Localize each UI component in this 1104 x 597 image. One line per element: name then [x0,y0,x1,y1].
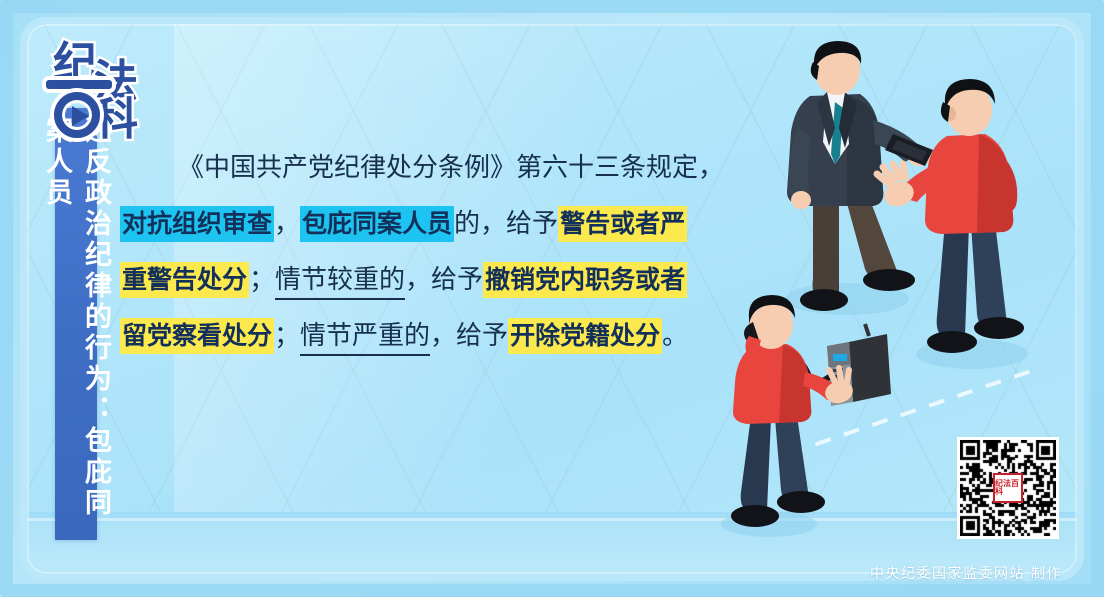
text-line-1: 《中国共产党纪律处分条例》第六十三条规定， [120,140,760,196]
brand-logo: 纪 纪 法 法 科 科 [50,42,154,142]
poster-stage: 纪 纪 法 法 科 科 违反政治纪律的行为：包庇同案人员 《中国共产党纪律处分条… [0,0,1104,597]
qr-badge-text: 纪法百科 [995,480,1021,496]
qr-code[interactable]: 纪法百科 [957,437,1059,539]
line3-semicolon: ； [249,265,275,295]
text-line-2: 对抗组织审查，包庇同案人员的，给予警告或者严 [120,196,760,252]
logo-char-bai-play [50,82,108,140]
line4-semicolon: ； [274,321,300,351]
text-line-3: 重警告处分；情节较重的，给予撤销党内职务或者 [120,252,760,308]
underline-qingjie-jiaozhong-de: 情节较重的 [275,265,405,300]
highlight-zhong-jinggao-chufen: 重警告处分 [120,262,249,298]
line2-comma-1: ， [274,209,300,239]
line2-text-2: 的，给予 [454,209,558,239]
highlight-liudang-chakan-chufen: 留党察看处分 [120,318,274,354]
line1-text: 《中国共产党纪律处分条例》第六十三条规定， [178,153,724,183]
qr-center-badge: 纪法百科 [993,473,1023,503]
regulation-text-block: 《中国共产党纪律处分条例》第六十三条规定， 对抗组织审查，包庇同案人员的，给予警… [120,140,760,364]
highlight-kaichu-dangji-chufen: 开除党籍处分 [508,318,662,354]
line4-period: 。 [662,321,688,351]
highlight-chexiao-dangnei-zhiwu: 撤销党内职务或者 [483,262,687,298]
footer-credit: 中央纪委国家监委网站 制作 [870,563,1062,583]
highlight-jinggao-huozhe-yan: 警告或者严 [558,206,687,242]
line4-text-2: ，给予 [430,321,508,351]
highlight-baobi-tongan-renyuan: 包庇同案人员 [300,206,454,242]
logo-bai-top-bar [46,80,112,89]
line3-text-2: ，给予 [405,265,483,295]
text-line-4: 留党察看处分；情节严重的，给予开除党籍处分。 [120,308,760,364]
vertical-title-text: 违反政治纪律的行为：包庇同案人员 [37,108,115,540]
underline-qingjie-yanzhong-de: 情节严重的 [300,321,430,356]
vertical-title-banner: 违反政治纪律的行为：包庇同案人员 [55,108,97,540]
play-icon [72,106,89,126]
highlight-duikang-zuzhi-shencha: 对抗组织审查 [120,206,274,242]
